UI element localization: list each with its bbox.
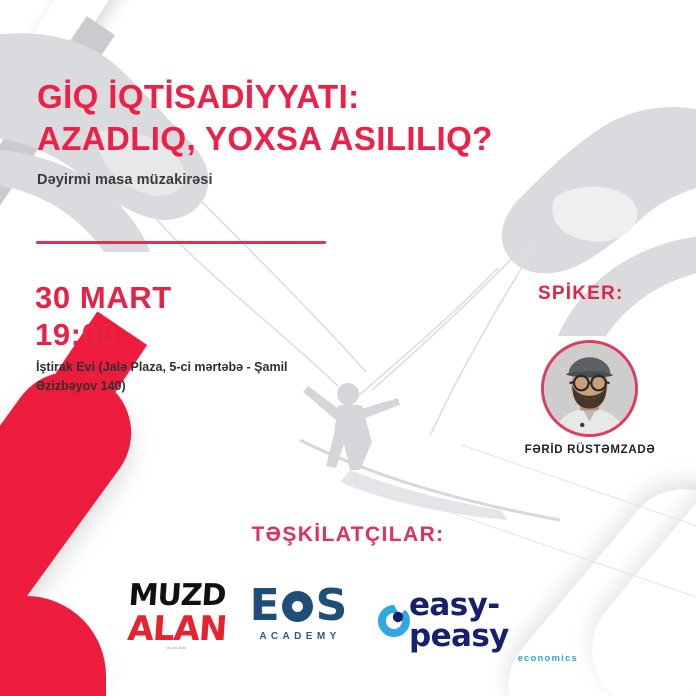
event-subtitle: Dəyirmi masa müzakirəsi (37, 172, 213, 188)
eos-letter-e: E (250, 584, 279, 628)
speaker-name: FƏRİD RÜSTƏMZADƏ (486, 444, 694, 456)
muzd-alan-top-text: MUZD (117, 582, 237, 611)
easy-peasy-word: easy-peasy (409, 590, 584, 652)
easy-peasy-circle-icon (374, 601, 414, 641)
eos-wordmark: E S (240, 584, 356, 628)
eos-circle-icon (282, 591, 313, 622)
muzd-alan-bottom-text: ALAN (117, 613, 237, 645)
speaker-label: SPİKER: (538, 283, 623, 305)
title-line-1: GİQ İQTİSADİYYATI: (37, 78, 360, 115)
event-poster: GİQ İQTİSADİYYATI: AZADLIQ, YOXSA ASILIL… (0, 0, 696, 696)
event-time: 19:00 (35, 317, 172, 354)
event-venue: İştirak Evi (Jalə Plaza, 5-ci mərtəbə - … (36, 358, 316, 396)
eos-letter-s: S (316, 584, 347, 628)
logo-eos-academy[interactable]: E S ACADEMY (240, 584, 356, 642)
easy-peasy-wordmark-row: easy-peasy (374, 590, 584, 652)
red-divider (36, 241, 326, 244)
organizer-logos: MUZD ALAN muzd alan E S ACADEMY (0, 578, 696, 673)
speaker-avatar (541, 340, 638, 437)
event-datetime: 30 MART 19:00 (35, 280, 172, 353)
eos-subtext: ACADEMY (240, 631, 356, 642)
logo-easy-peasy[interactable]: easy-peasy economics (374, 590, 584, 664)
title-line-2: AZADLIQ, YOXSA ASILILIQ? (37, 118, 577, 160)
logo-muzd-alan[interactable]: MUZD ALAN muzd alan (118, 582, 236, 650)
organizers-label: TƏŞKİLATÇILAR: (0, 523, 696, 547)
page-title: GİQ İQTİSADİYYATI: AZADLIQ, YOXSA ASILIL… (37, 76, 577, 159)
event-date: 30 MART (35, 280, 172, 315)
poster-content: GİQ İQTİSADİYYATI: AZADLIQ, YOXSA ASILIL… (0, 0, 696, 696)
speaker-photo-illustration (544, 343, 635, 434)
easy-peasy-subtext: economics (374, 653, 584, 664)
